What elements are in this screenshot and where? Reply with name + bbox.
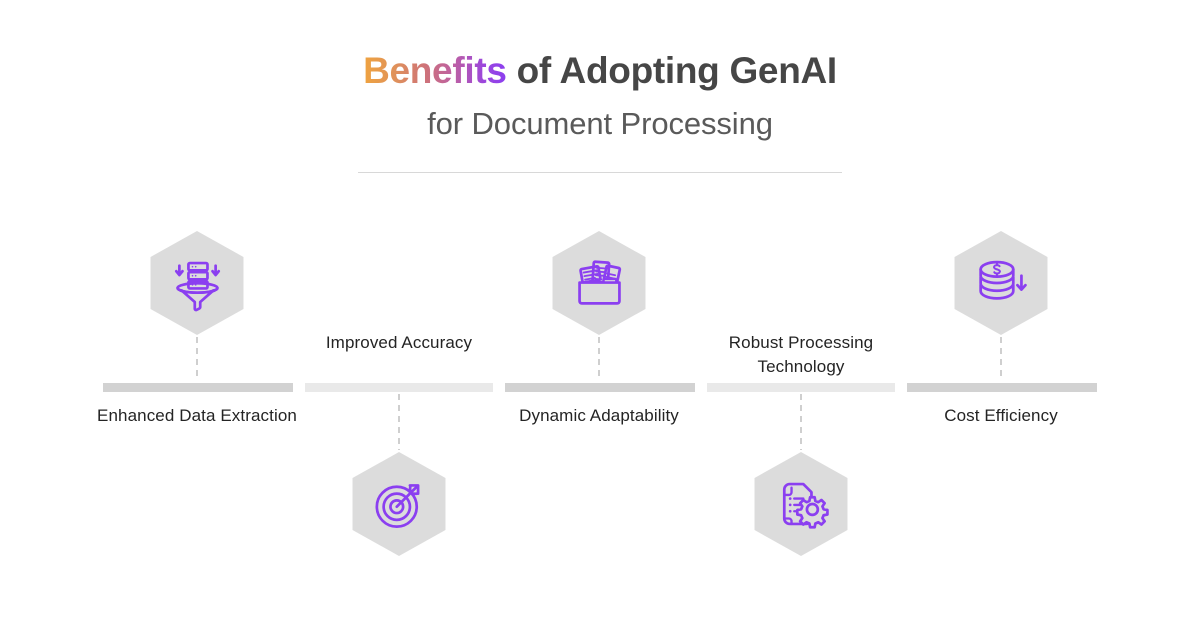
benefit-label-robust-processing-technology: Robust Processing Technology	[696, 331, 906, 379]
timeline-segment-5	[907, 383, 1097, 392]
benefit-label-dynamic-adaptability: Dynamic Adaptability	[494, 404, 704, 428]
hexagon-enhanced-data-extraction	[151, 231, 244, 335]
page-title: Benefits of Adopting GenAI	[0, 47, 1200, 95]
connector-line-improved-accuracy	[398, 394, 400, 450]
data-funnel-icon	[168, 254, 226, 312]
hexagon-cost-efficiency	[955, 231, 1048, 335]
hexagon-shape	[755, 452, 848, 556]
hexagon-shape	[955, 231, 1048, 335]
connector-line-robust-processing-technology	[800, 394, 802, 450]
title-highlight-word: Benefits	[363, 50, 507, 91]
header-divider	[358, 172, 842, 173]
connector-line-cost-efficiency	[1000, 337, 1002, 381]
document-gear-icon	[772, 475, 830, 533]
benefit-label-enhanced-data-extraction: Enhanced Data Extraction	[92, 404, 302, 428]
hexagon-robust-processing-technology	[755, 452, 848, 556]
timeline-segment-2	[305, 383, 493, 392]
title-rest: of Adopting GenAI	[507, 50, 837, 91]
benefit-label-improved-accuracy: Improved Accuracy	[294, 331, 504, 355]
hexagon-dynamic-adaptability	[553, 231, 646, 335]
timeline-segment-4	[707, 383, 895, 392]
hexagon-shape	[151, 231, 244, 335]
hexagon-shape	[553, 231, 646, 335]
connector-line-enhanced-data-extraction	[196, 337, 198, 381]
page-subtitle: for Document Processing	[0, 104, 1200, 144]
timeline-segment-3	[505, 383, 695, 392]
timeline-bar	[0, 383, 1200, 393]
target-arrow-icon	[370, 475, 428, 533]
hexagon-improved-accuracy	[353, 452, 446, 556]
hexagon-shape	[353, 452, 446, 556]
coin-stack-down-arrow-icon	[972, 254, 1030, 312]
timeline-segment-1	[103, 383, 293, 392]
connector-line-dynamic-adaptability	[598, 337, 600, 381]
infographic-header: Benefits of Adopting GenAI for Document …	[0, 0, 1200, 144]
document-folder-icon	[569, 254, 629, 312]
benefit-label-cost-efficiency: Cost Efficiency	[896, 404, 1106, 428]
